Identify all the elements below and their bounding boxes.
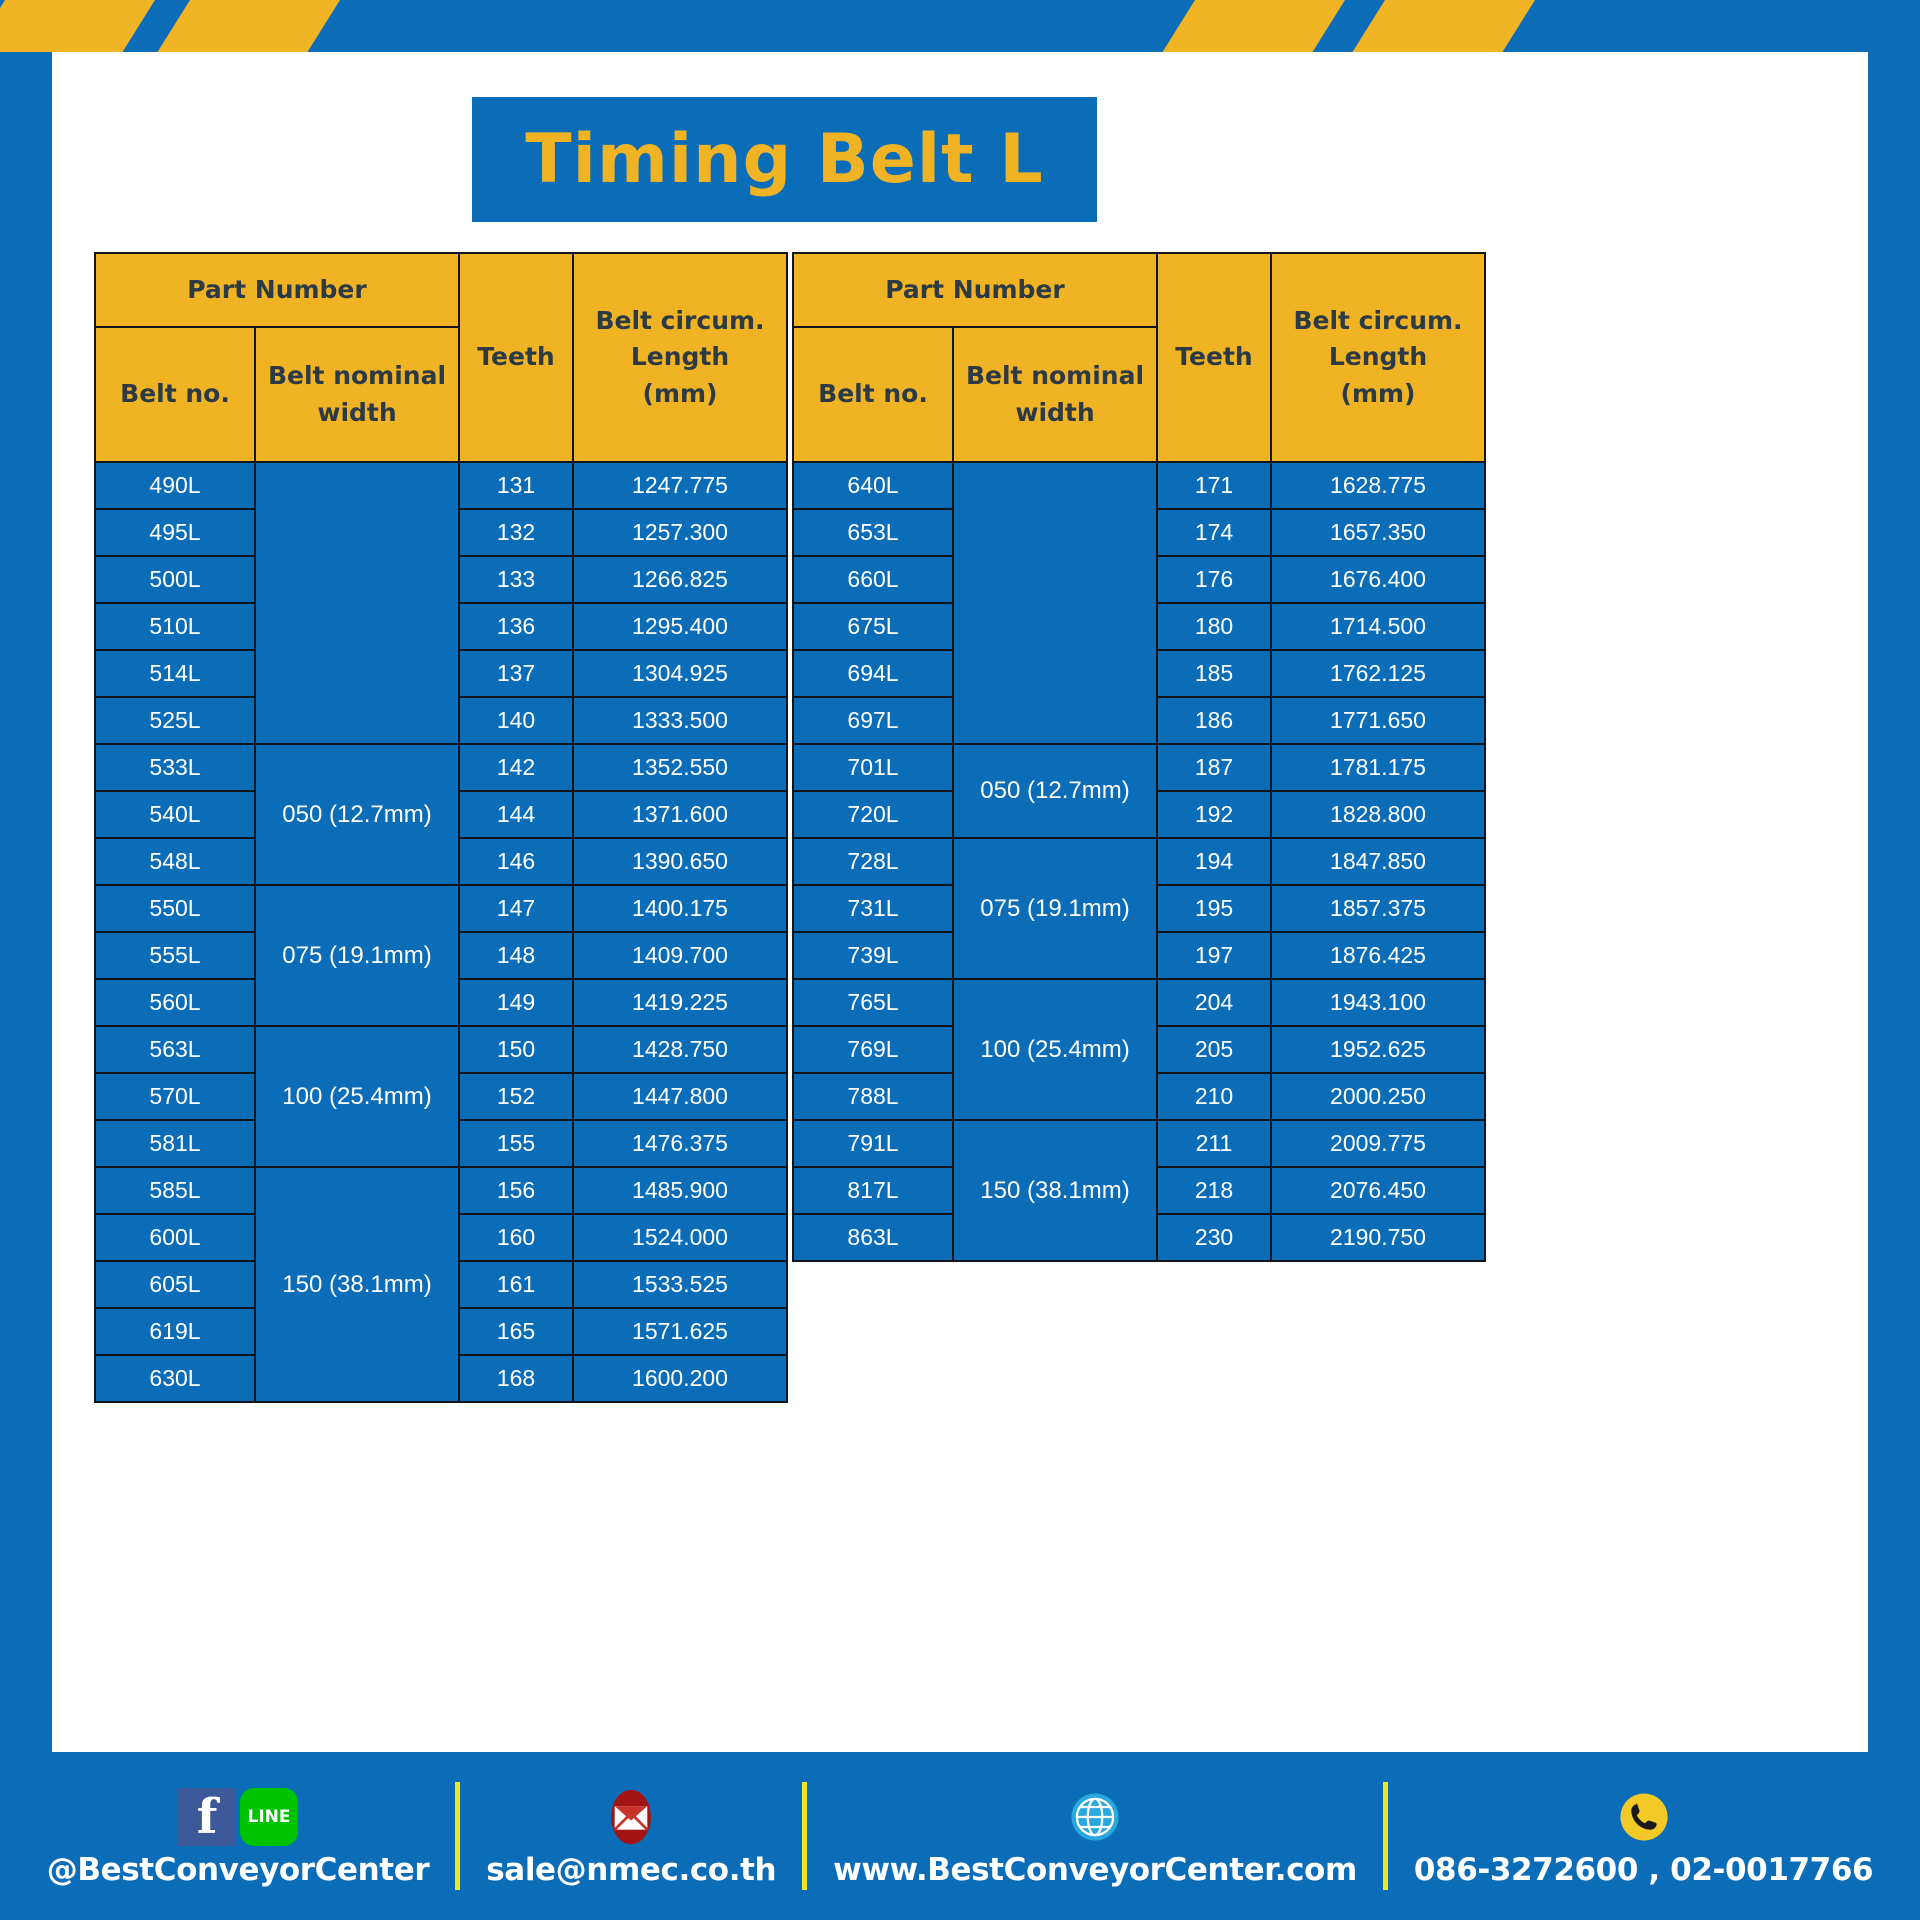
cell-teeth: 174 [1158, 510, 1270, 555]
cell-belt-length: 1828.800 [1272, 792, 1484, 837]
cell-belt-no: 600L [96, 1215, 254, 1260]
cell-belt-length: 1371.600 [574, 792, 786, 837]
cell-belt-length: 2000.250 [1272, 1074, 1484, 1119]
cell-belt-length: 1600.200 [574, 1356, 786, 1401]
cell-belt-no: 563L [96, 1027, 254, 1072]
header-belt-circum-length: Belt circum. Length (mm) [574, 254, 786, 461]
cell-belt-length: 1676.400 [1272, 557, 1484, 602]
cell-teeth: 156 [460, 1168, 572, 1213]
table-header-row-top: Part Number Teeth Belt circum. Length (m… [794, 254, 1484, 326]
cell-teeth: 137 [460, 651, 572, 696]
cell-belt-no: 560L [96, 980, 254, 1025]
table-row: 490L1311247.775 [96, 463, 786, 508]
cell-belt-length: 1447.800 [574, 1074, 786, 1119]
footer-globe-icon-wrap [1066, 1784, 1124, 1846]
cell-belt-no: 605L [96, 1262, 254, 1307]
cell-belt-length: 1857.375 [1272, 886, 1484, 931]
page-title: Timing Belt L [472, 97, 1097, 222]
cell-teeth: 152 [460, 1074, 572, 1119]
header-belt-no: Belt no. [794, 328, 952, 461]
cell-belt-length: 1714.500 [1272, 604, 1484, 649]
cell-belt-length: 1390.650 [574, 839, 786, 884]
cell-teeth: 160 [460, 1215, 572, 1260]
cell-teeth: 155 [460, 1121, 572, 1166]
spec-table-left-wrapper: Part Number Teeth Belt circum. Length (m… [94, 252, 788, 1403]
table-row: 640L1711628.775 [794, 463, 1484, 508]
cell-belt-length: 1628.775 [1272, 463, 1484, 508]
footer-email-group: sale@nmec.co.th [460, 1784, 802, 1888]
cell-belt-nominal-width [954, 463, 1156, 743]
cell-belt-no: 619L [96, 1309, 254, 1354]
cell-teeth: 136 [460, 604, 572, 649]
cell-belt-no: 585L [96, 1168, 254, 1213]
footer-phone: 086-3272600 , 02-0017766 [1414, 1852, 1873, 1888]
cell-belt-no: 514L [96, 651, 254, 696]
cell-belt-length: 1771.650 [1272, 698, 1484, 743]
cell-teeth: 149 [460, 980, 572, 1025]
cell-belt-no: 500L [96, 557, 254, 602]
footer-email: sale@nmec.co.th [486, 1852, 776, 1888]
cell-belt-length: 1419.225 [574, 980, 786, 1025]
footer-social-group: f LINE @BestConveyorCenter [21, 1784, 455, 1888]
cell-belt-length: 1247.775 [574, 463, 786, 508]
footer-website: www.BestConveyorCenter.com [833, 1852, 1357, 1888]
cell-belt-no: 694L [794, 651, 952, 696]
top-decorative-strip [0, 0, 1920, 52]
cell-belt-length: 1333.500 [574, 698, 786, 743]
cell-belt-no: 490L [96, 463, 254, 508]
cell-belt-length: 1952.625 [1272, 1027, 1484, 1072]
cell-belt-no: 817L [794, 1168, 952, 1213]
table-row: 533L050 (12.7mm)1421352.550 [96, 745, 786, 790]
cell-belt-no: 630L [96, 1356, 254, 1401]
cell-belt-length: 1781.175 [1272, 745, 1484, 790]
cell-teeth: 132 [460, 510, 572, 555]
cell-belt-no: 863L [794, 1215, 952, 1260]
table-row: 563L100 (25.4mm)1501428.750 [96, 1027, 786, 1072]
chevron-shape [0, 0, 165, 52]
cell-belt-length: 1571.625 [574, 1309, 786, 1354]
cell-belt-nominal-width: 150 (38.1mm) [256, 1168, 458, 1401]
cell-teeth: 186 [1158, 698, 1270, 743]
cell-belt-no: 765L [794, 980, 952, 1025]
cell-belt-length: 1400.175 [574, 886, 786, 931]
cell-teeth: 133 [460, 557, 572, 602]
cell-teeth: 210 [1158, 1074, 1270, 1119]
cell-teeth: 218 [1158, 1168, 1270, 1213]
cell-belt-nominal-width: 050 (12.7mm) [954, 745, 1156, 837]
cell-belt-length: 1657.350 [1272, 510, 1484, 555]
cell-teeth: 171 [1158, 463, 1270, 508]
header-belt-circum-line3: (mm) [1272, 376, 1484, 412]
cell-teeth: 197 [1158, 933, 1270, 978]
cell-belt-no: 728L [794, 839, 952, 884]
cell-teeth: 131 [460, 463, 572, 508]
header-belt-circum-length: Belt circum. Length (mm) [1272, 254, 1484, 461]
cell-teeth: 185 [1158, 651, 1270, 696]
cell-teeth: 146 [460, 839, 572, 884]
cell-belt-no: 769L [794, 1027, 952, 1072]
cell-belt-no: 548L [96, 839, 254, 884]
cell-belt-length: 1476.375 [574, 1121, 786, 1166]
cell-belt-no: 640L [794, 463, 952, 508]
spec-table-left: Part Number Teeth Belt circum. Length (m… [94, 252, 788, 1403]
cell-belt-no: 788L [794, 1074, 952, 1119]
cell-teeth: 144 [460, 792, 572, 837]
table-row: 728L075 (19.1mm)1941847.850 [794, 839, 1484, 884]
spec-table-right: Part Number Teeth Belt circum. Length (m… [792, 252, 1486, 1262]
header-belt-circum-line1: Belt circum. [574, 303, 786, 339]
cell-teeth: 148 [460, 933, 572, 978]
cell-teeth: 211 [1158, 1121, 1270, 1166]
cell-belt-no: 720L [794, 792, 952, 837]
cell-belt-no: 701L [794, 745, 952, 790]
spec-table-right-body: 640L1711628.775653L1741657.350660L176167… [794, 463, 1484, 1260]
cell-teeth: 147 [460, 886, 572, 931]
cell-belt-length: 1304.925 [574, 651, 786, 696]
cell-teeth: 230 [1158, 1215, 1270, 1260]
cell-belt-length: 1428.750 [574, 1027, 786, 1072]
cell-belt-length: 1876.425 [1272, 933, 1484, 978]
cell-teeth: 140 [460, 698, 572, 743]
header-belt-circum-line2: Length [1272, 339, 1484, 375]
header-part-number: Part Number [96, 254, 458, 326]
header-part-number: Part Number [794, 254, 1156, 326]
cell-teeth: 192 [1158, 792, 1270, 837]
cell-belt-length: 1295.400 [574, 604, 786, 649]
header-belt-no: Belt no. [96, 328, 254, 461]
cell-belt-no: 697L [794, 698, 952, 743]
table-row: 765L100 (25.4mm)2041943.100 [794, 980, 1484, 1025]
header-teeth: Teeth [1158, 254, 1270, 461]
cell-teeth: 142 [460, 745, 572, 790]
cell-belt-no: 570L [96, 1074, 254, 1119]
spec-table-left-body: 490L1311247.775495L1321257.300500L133126… [96, 463, 786, 1401]
cell-teeth: 150 [460, 1027, 572, 1072]
header-belt-circum-line3: (mm) [574, 376, 786, 412]
table-row: 585L150 (38.1mm)1561485.900 [96, 1168, 786, 1213]
page-title-text: Timing Belt L [525, 120, 1043, 199]
cell-belt-length: 2190.750 [1272, 1215, 1484, 1260]
cell-belt-length: 1533.525 [574, 1262, 786, 1307]
cell-teeth: 204 [1158, 980, 1270, 1025]
cell-teeth: 180 [1158, 604, 1270, 649]
footer-contact-bar: f LINE @BestConveyorCenter sale@nmec.co.… [0, 1752, 1920, 1920]
chevron-shape [1345, 0, 1545, 52]
email-icon[interactable] [602, 1788, 660, 1846]
cell-belt-nominal-width: 075 (19.1mm) [954, 839, 1156, 978]
footer-social-handle: @BestConveyorCenter [47, 1852, 429, 1888]
cell-belt-length: 1762.125 [1272, 651, 1484, 696]
header-belt-circum-line1: Belt circum. [1272, 303, 1484, 339]
cell-belt-no: 550L [96, 886, 254, 931]
cell-teeth: 161 [460, 1262, 572, 1307]
footer-website-group: www.BestConveyorCenter.com [807, 1784, 1383, 1888]
cell-belt-no: 525L [96, 698, 254, 743]
cell-belt-nominal-width [256, 463, 458, 743]
cell-belt-no: 533L [96, 745, 254, 790]
cell-teeth: 176 [1158, 557, 1270, 602]
table-row: 791L150 (38.1mm)2112009.775 [794, 1121, 1484, 1166]
content-card: Timing Belt L Part Number Teeth Belt cir… [52, 52, 1868, 1752]
cell-belt-length: 2009.775 [1272, 1121, 1484, 1166]
cell-belt-length: 1257.300 [574, 510, 786, 555]
header-belt-nominal-width: Belt nominal width [256, 328, 458, 461]
cell-teeth: 194 [1158, 839, 1270, 884]
cell-belt-no: 581L [96, 1121, 254, 1166]
cell-teeth: 165 [460, 1309, 572, 1354]
facebook-icon[interactable]: f [178, 1788, 236, 1846]
cell-belt-no: 653L [794, 510, 952, 555]
line-icon[interactable]: LINE [240, 1788, 298, 1846]
chevron-shape [1155, 0, 1355, 52]
cell-belt-length: 1409.700 [574, 933, 786, 978]
cell-belt-no: 510L [96, 604, 254, 649]
table-row: 701L050 (12.7mm)1871781.175 [794, 745, 1484, 790]
cell-belt-length: 1485.900 [574, 1168, 786, 1213]
header-belt-circum-line2: Length [574, 339, 786, 375]
cell-belt-nominal-width: 100 (25.4mm) [256, 1027, 458, 1166]
header-teeth: Teeth [460, 254, 572, 461]
cell-belt-nominal-width: 100 (25.4mm) [954, 980, 1156, 1119]
cell-belt-no: 739L [794, 933, 952, 978]
cell-belt-no: 675L [794, 604, 952, 649]
cell-teeth: 195 [1158, 886, 1270, 931]
cell-belt-no: 791L [794, 1121, 952, 1166]
cell-belt-nominal-width: 050 (12.7mm) [256, 745, 458, 884]
cell-belt-no: 495L [96, 510, 254, 555]
footer-social-icons: f LINE [178, 1784, 298, 1846]
cell-belt-nominal-width: 150 (38.1mm) [954, 1121, 1156, 1260]
cell-teeth: 205 [1158, 1027, 1270, 1072]
cell-belt-no: 540L [96, 792, 254, 837]
cell-belt-length: 1943.100 [1272, 980, 1484, 1025]
cell-belt-length: 1352.550 [574, 745, 786, 790]
header-belt-nominal-width: Belt nominal width [954, 328, 1156, 461]
chevron-shape [150, 0, 350, 52]
footer-phone-icon-wrap [1615, 1784, 1673, 1846]
cell-teeth: 168 [460, 1356, 572, 1401]
cell-belt-length: 2076.450 [1272, 1168, 1484, 1213]
cell-belt-length: 1266.825 [574, 557, 786, 602]
cell-belt-no: 731L [794, 886, 952, 931]
footer-email-icon-wrap [602, 1784, 660, 1846]
phone-icon[interactable] [1615, 1788, 1673, 1846]
table-row: 550L075 (19.1mm)1471400.175 [96, 886, 786, 931]
table-header-row-top: Part Number Teeth Belt circum. Length (m… [96, 254, 786, 326]
globe-icon[interactable] [1066, 1788, 1124, 1846]
cell-belt-length: 1524.000 [574, 1215, 786, 1260]
cell-belt-no: 660L [794, 557, 952, 602]
footer-phone-group: 086-3272600 , 02-0017766 [1388, 1784, 1899, 1888]
cell-belt-length: 1847.850 [1272, 839, 1484, 884]
spec-table-right-wrapper: Part Number Teeth Belt circum. Length (m… [792, 252, 1486, 1262]
cell-belt-no: 555L [96, 933, 254, 978]
cell-belt-nominal-width: 075 (19.1mm) [256, 886, 458, 1025]
cell-teeth: 187 [1158, 745, 1270, 790]
